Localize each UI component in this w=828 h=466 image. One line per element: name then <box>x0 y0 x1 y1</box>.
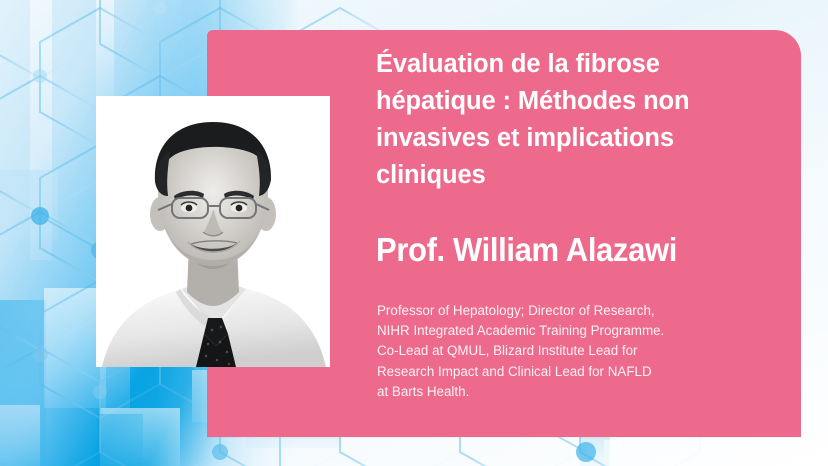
speaker-portrait-frame <box>96 96 330 367</box>
page-title: Évaluation de la fibrose hépatique : Mét… <box>376 46 776 194</box>
speaker-portrait-photo <box>96 96 330 367</box>
speaker-bio: Professor of Hepatology; Director of Res… <box>377 301 777 402</box>
talk-title-block: Évaluation de la fibrose hépatique : Mét… <box>376 46 776 194</box>
slide-canvas: Évaluation de la fibrose hépatique : Mét… <box>0 0 828 466</box>
speaker-name: Prof. William Alazawi <box>376 230 771 270</box>
